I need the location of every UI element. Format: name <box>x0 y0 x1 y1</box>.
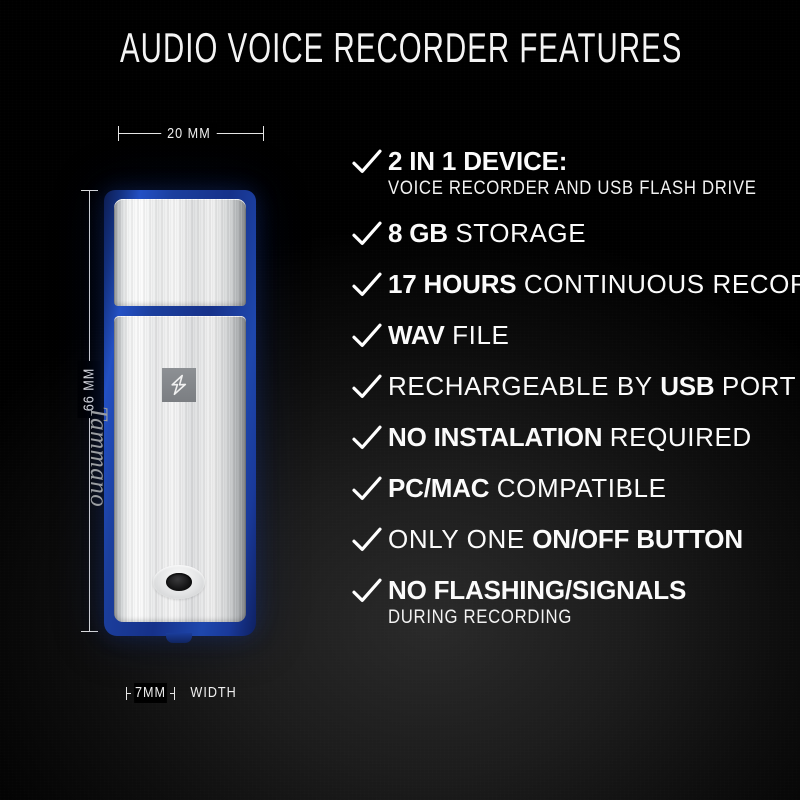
dimension-cap-top <box>81 190 98 191</box>
feature-bold: USB <box>660 371 714 401</box>
feature-item: 17 HOURS CONTINUOUS RECORDING <box>352 269 796 303</box>
feature-item: RECHARGEABLE BY USB PORT <box>352 371 796 405</box>
page-title: AUDIO VOICE RECORDER FEATURES <box>120 24 680 72</box>
feature-text: 2 IN 1 DEVICE: VOICE RECORDER AND USB FL… <box>388 146 800 201</box>
check-icon <box>352 320 388 350</box>
feature-text: NO INSTALATION REQUIRED <box>388 422 796 452</box>
feature-bold: 8 GB <box>388 218 448 248</box>
feature-main-line: WAV FILE <box>388 320 509 350</box>
feature-item: PC/MAC COMPATIBLE <box>352 473 796 507</box>
infographic-page: AUDIO VOICE RECORDER FEATURES 20 MM 66 M… <box>0 0 800 800</box>
dimension-cap-left <box>118 126 119 141</box>
drive-bottom-nub <box>166 633 192 643</box>
feature-item: WAV FILE <box>352 320 796 354</box>
feature-text: NO FLASHING/SIGNALS DURING RECORDING <box>388 575 796 630</box>
microphone-hole-ring <box>153 565 205 599</box>
dimension-cap-right-thin <box>174 687 175 700</box>
feature-bold: NO INSTALATION <box>388 422 602 452</box>
feature-main-line: 2 IN 1 DEVICE: <box>388 146 567 176</box>
brushed-texture-cap <box>114 199 246 306</box>
feature-regular: COMPATIBLE <box>497 473 667 503</box>
feature-list: 2 IN 1 DEVICE: VOICE RECORDER AND USB FL… <box>352 146 796 647</box>
feature-item: NO INSTALATION REQUIRED <box>352 422 796 456</box>
feature-text: ONLY ONE ON/OFF BUTTON <box>388 524 796 554</box>
lightning-bolt-icon <box>162 368 196 402</box>
feature-prefix: ONLY ONE <box>388 524 525 554</box>
dimension-segment-left <box>127 693 131 694</box>
check-icon <box>352 473 388 503</box>
feature-prefix: RECHARGEABLE BY <box>388 371 653 401</box>
feature-text: 8 GB STORAGE <box>388 218 796 248</box>
dimension-width-label: 20 MM <box>161 123 216 144</box>
check-icon <box>352 146 388 176</box>
feature-main-line: RECHARGEABLE BY USB PORT <box>388 371 796 401</box>
feature-main-line: PC/MAC COMPATIBLE <box>388 473 667 503</box>
feature-regular: REQUIRED <box>610 422 752 452</box>
feature-regular: FILE <box>452 320 509 350</box>
usb-drive-illustration: Tammano <box>104 190 256 638</box>
check-icon <box>352 524 388 554</box>
feature-regular: STORAGE <box>455 218 586 248</box>
check-icon <box>352 575 388 605</box>
drive-cap-metal-face <box>114 199 246 306</box>
feature-item: 2 IN 1 DEVICE: VOICE RECORDER AND USB FL… <box>352 146 796 201</box>
feature-text: PC/MAC COMPATIBLE <box>388 473 796 503</box>
dimension-thickness: 7MM WIDTH <box>126 682 241 704</box>
feature-regular: CONTINUOUS RECORDING <box>524 269 800 299</box>
feature-sub-line: DURING RECORDING <box>388 606 747 630</box>
feature-bold: ON/OFF BUTTON <box>532 524 743 554</box>
feature-bold: WAV <box>388 320 445 350</box>
feature-regular: PORT <box>722 371 796 401</box>
feature-text: 17 HOURS CONTINUOUS RECORDING <box>388 269 800 299</box>
feature-main-line: 17 HOURS CONTINUOUS RECORDING <box>388 269 800 299</box>
feature-sub-line: VOICE RECORDER AND USB FLASH DRIVE <box>388 177 757 201</box>
feature-item: ONLY ONE ON/OFF BUTTON <box>352 524 796 558</box>
check-icon <box>352 422 388 452</box>
dimension-thickness-label: 7MM <box>134 683 167 703</box>
feature-bold: 17 HOURS <box>388 269 516 299</box>
feature-main-line: NO FLASHING/SIGNALS <box>388 575 686 605</box>
dimension-width-top: 20 MM <box>118 122 264 144</box>
feature-text: RECHARGEABLE BY USB PORT <box>388 371 796 401</box>
check-icon <box>352 218 388 248</box>
feature-item: NO FLASHING/SIGNALS DURING RECORDING <box>352 575 796 630</box>
feature-main-line: ONLY ONE ON/OFF BUTTON <box>388 524 743 554</box>
microphone-hole <box>166 573 192 591</box>
feature-main-line: NO INSTALATION REQUIRED <box>388 422 752 452</box>
feature-item: 8 GB STORAGE <box>352 218 796 252</box>
feature-bold: PC/MAC <box>388 473 489 503</box>
feature-text: WAV FILE <box>388 320 796 350</box>
check-icon <box>352 269 388 299</box>
feature-bold: NO FLASHING/SIGNALS <box>388 575 686 605</box>
check-icon <box>352 371 388 401</box>
brand-name: Tammano <box>84 406 112 556</box>
dimension-thickness-word: WIDTH <box>190 683 236 703</box>
feature-bold: 2 IN 1 DEVICE: <box>388 146 567 176</box>
dimension-cap-bottom <box>81 631 98 632</box>
dimension-cap-right <box>263 126 264 141</box>
feature-main-line: 8 GB STORAGE <box>388 218 586 248</box>
